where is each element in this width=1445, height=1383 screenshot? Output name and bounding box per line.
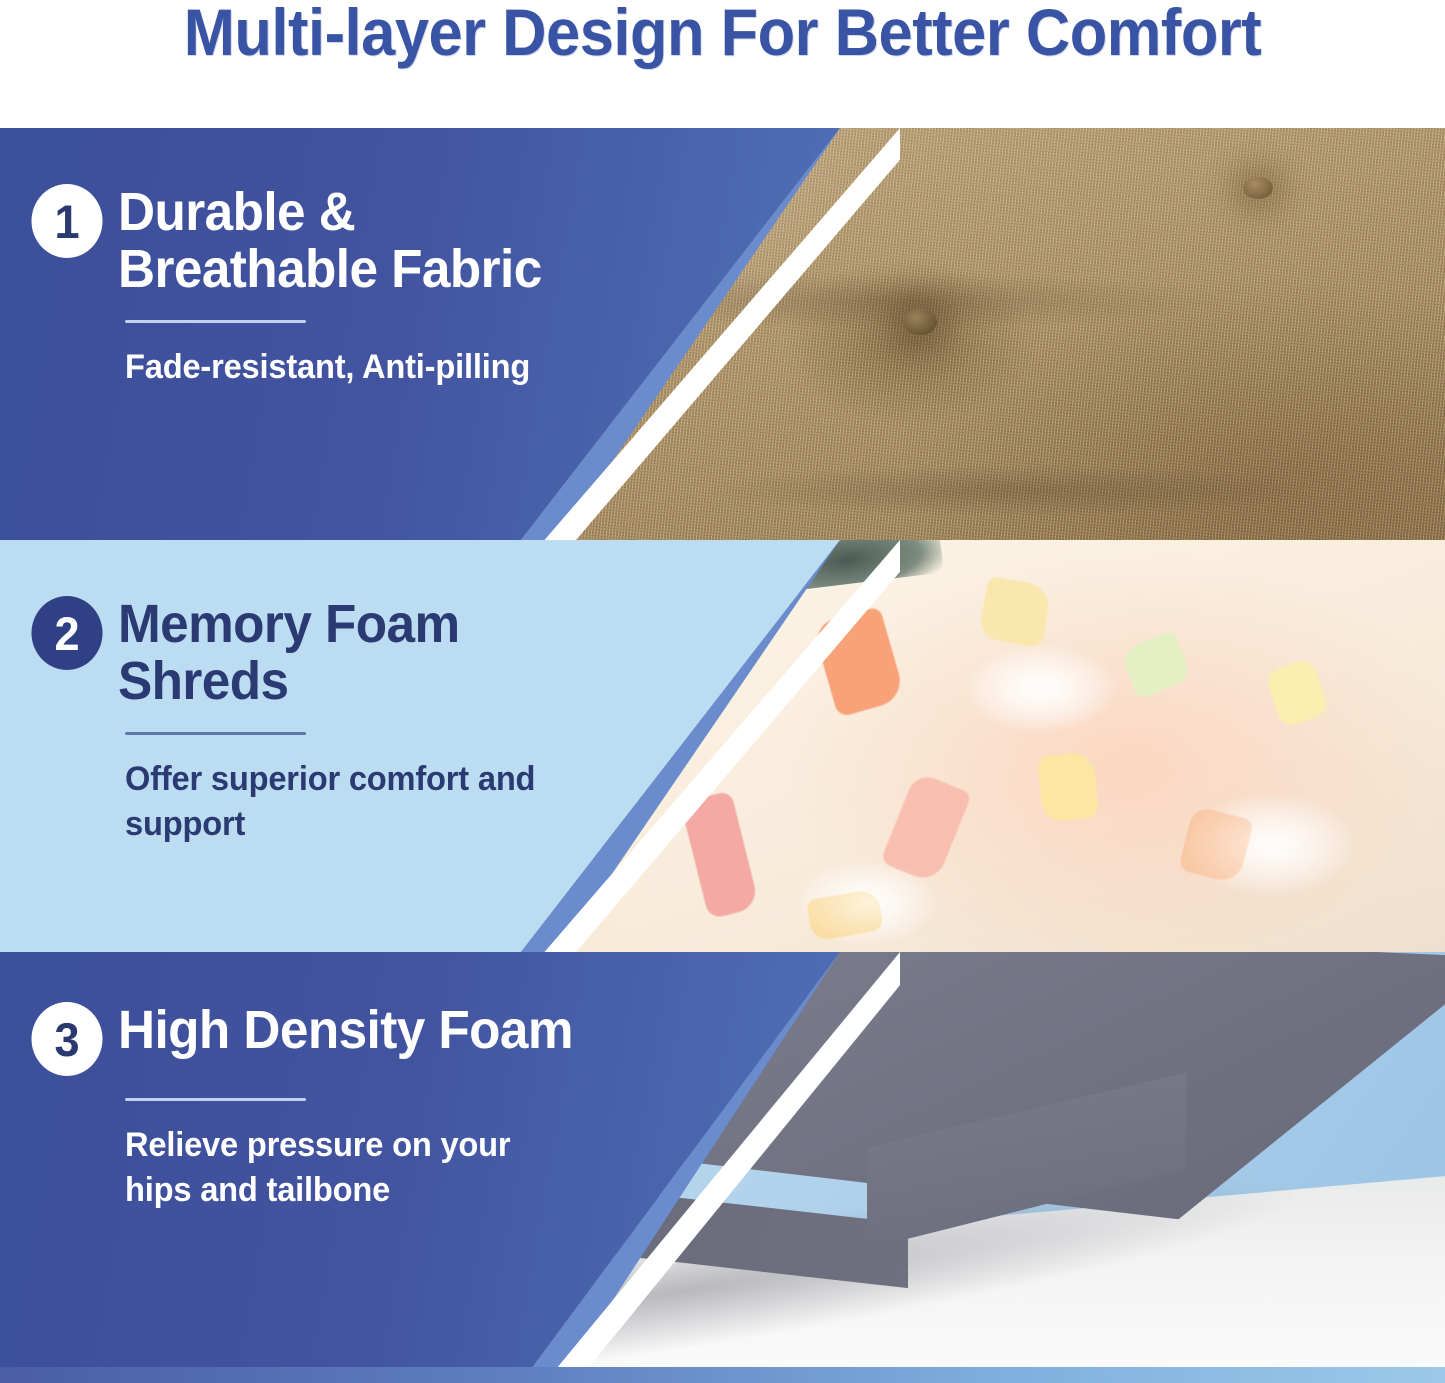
panel-1-heading-row: 1 Durable & Breathable Fabric [30, 180, 630, 298]
panel-2-content: 2 Memory Foam Shreds Offer superior comf… [30, 592, 630, 847]
panel-2-divider-rule [125, 732, 306, 735]
layer-panel-3: 3 High Density Foam Relieve pressure on … [0, 952, 1445, 1383]
step-number-badge-2: 2 [31, 596, 102, 670]
panel-3-heading: High Density Foam [118, 998, 573, 1059]
panel-1-subtitle: Fade-resistant, Anti-pilling [125, 345, 576, 390]
page-title: Multi-layer Design For Better Comfort [51, 0, 1395, 67]
panel-1-content: 1 Durable & Breathable Fabric Fade-resis… [30, 180, 630, 390]
layer-panel-2: 2 Memory Foam Shreds Offer superior comf… [0, 540, 1445, 952]
panel-3-divider-rule [125, 1098, 306, 1101]
bottom-accent-band [0, 1367, 1445, 1383]
step-number-badge-3: 3 [31, 1002, 102, 1076]
panel-2-heading-row: 2 Memory Foam Shreds [30, 592, 630, 710]
panel-3-content: 3 High Density Foam Relieve pressure on … [30, 998, 630, 1213]
panel-2-subtitle: Offer superior comfort and support [125, 757, 576, 847]
panel-3-heading-row: 3 High Density Foam [30, 998, 630, 1076]
title-bar: Multi-layer Design For Better Comfort [0, 0, 1445, 128]
panel-1-divider-rule [125, 320, 306, 323]
step-number-badge-1: 1 [31, 184, 102, 258]
panel-1-heading: Durable & Breathable Fabric [118, 180, 604, 298]
panel-3-subtitle: Relieve pressure on your hips and tailbo… [125, 1123, 576, 1213]
layer-panel-1: 1 Durable & Breathable Fabric Fade-resis… [0, 128, 1445, 540]
panel-2-heading: Memory Foam Shreds [118, 592, 604, 710]
